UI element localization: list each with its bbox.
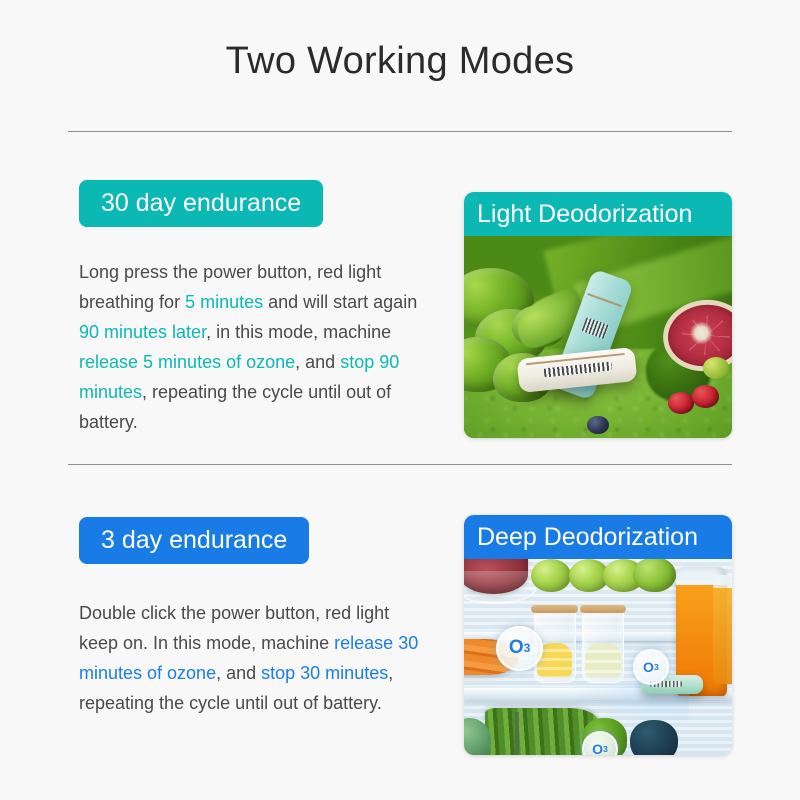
jar-lid [580,605,627,613]
dark-bell-pepper-icon [630,720,678,755]
desc-highlight: 90 minutes later [79,322,206,342]
device-vent-grille [543,361,612,377]
desc-part: , and [216,663,261,683]
ozone-subscript: 3 [524,642,531,655]
infographic-page: Two Working Modes 30 day endurance Long … [0,0,800,800]
device-vent-grille [582,317,610,339]
photo-card-deep-deodorization: Deep Deodorization [464,515,732,755]
device-seam [588,294,622,308]
cherry-icon [692,385,719,407]
orange-juice-bottle-icon [713,575,732,685]
divider-middle [68,464,732,465]
ozone-badge-icon: O3 [496,626,543,671]
photo-card-light-deodorization: Light Deodorization [464,192,732,438]
desc-highlight: 5 minutes [185,292,263,312]
desc-part: , in this mode, machine [206,322,391,342]
moss-background [464,236,732,438]
ozone-subscript: 3 [654,662,659,672]
fridge-interior-background: O3 O3 O3 [464,559,732,755]
blueberry-icon [587,416,608,434]
mode-description-light: Long press the power button, red light b… [79,257,429,437]
meat-bowl-icon [464,559,528,594]
green-apple-icon [633,559,676,592]
jar-lid [531,605,578,613]
desc-highlight: stop 30 minutes [261,663,388,683]
mode-description-deep: Double click the power button, red light… [79,598,429,718]
divider-top [68,131,732,132]
desc-part: , and [295,352,340,372]
ozone-badge-icon: O3 [633,649,669,684]
green-apple-icon [531,559,571,592]
photo-caption-deep: Deep Deodorization [464,515,732,559]
photo-image-light [464,236,732,438]
badge-30-day-endurance: 30 day endurance [79,180,323,227]
apple-slices [585,643,620,677]
ozone-subscript: 3 [603,744,608,754]
page-title: Two Working Modes [0,40,800,83]
badge-3-day-endurance: 3 day endurance [79,517,309,564]
desc-part: and will start again [263,292,417,312]
photo-image-deep: O3 O3 O3 [464,559,732,755]
desc-highlight: release 5 minutes of ozone [79,352,295,372]
photo-caption-light: Light Deodorization [464,192,732,236]
glass-jar-apple-icon [582,610,624,683]
cherry-icon [668,392,695,414]
